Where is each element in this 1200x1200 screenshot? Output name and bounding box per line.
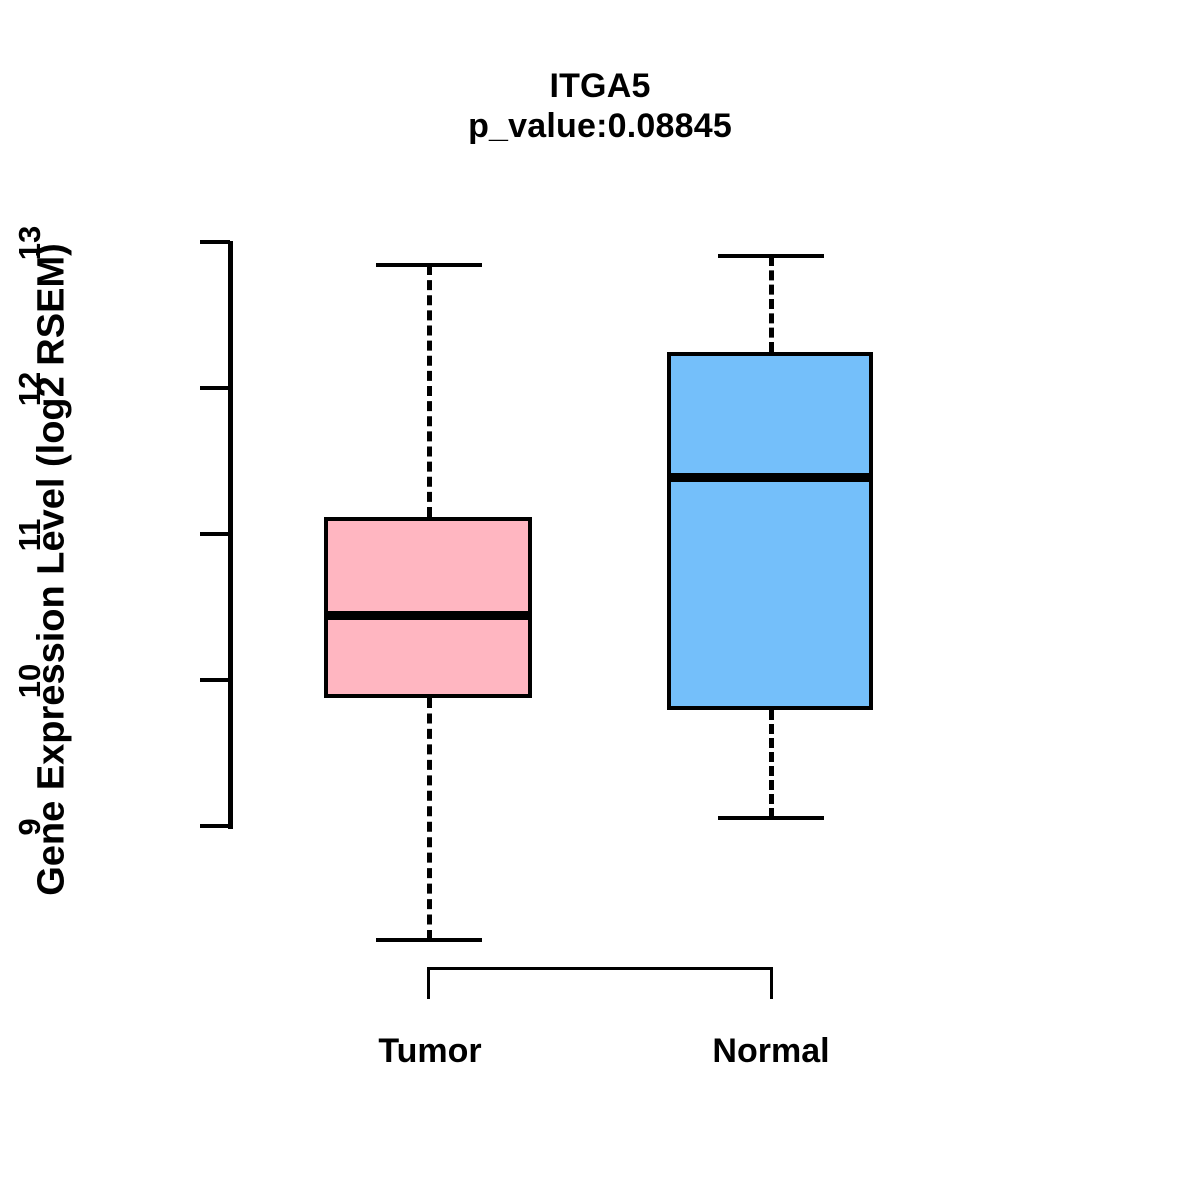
tumor-median-line: [324, 611, 532, 620]
y-tick-mark-9: [200, 824, 230, 828]
normal-box[interactable]: [667, 352, 873, 710]
normal-lower-whisker: [769, 710, 774, 818]
y-tick-mark-10: [200, 678, 230, 682]
y-tick-label-9: 9: [12, 797, 48, 857]
normal-lower-whisker-cap: [718, 816, 824, 820]
boxplot-figure: ITGA5 p_value:0.08845 Gene Expression Le…: [0, 0, 1200, 1200]
chart-title-block: ITGA5 p_value:0.08845: [0, 66, 1200, 146]
page-title: ITGA5: [0, 66, 1200, 106]
chart-subtitle-pvalue: p_value:0.08845: [0, 106, 1200, 146]
normal-upper-whisker: [769, 256, 774, 352]
y-tick-label-10: 10: [12, 651, 48, 711]
normal-median-line: [667, 473, 873, 482]
normal-upper-whisker-cap: [718, 254, 824, 258]
y-tick-mark-11: [200, 532, 230, 536]
y-tick-label-11: 11: [12, 505, 48, 565]
tumor-box[interactable]: [324, 517, 532, 698]
y-tick-label-13: 13: [12, 213, 48, 273]
tumor-lower-whisker: [427, 698, 432, 940]
y-tick-label-12: 12: [12, 359, 48, 419]
y-tick-mark-13: [200, 240, 230, 244]
x-tick-label-normal: Normal: [671, 1032, 871, 1071]
tumor-upper-whisker-cap: [376, 263, 482, 267]
tumor-lower-whisker-cap: [376, 938, 482, 942]
y-tick-mark-12: [200, 386, 230, 390]
x-tick-label-tumor: Tumor: [330, 1032, 530, 1071]
tumor-upper-whisker: [427, 265, 432, 517]
x-axis-bracket: [427, 967, 773, 999]
